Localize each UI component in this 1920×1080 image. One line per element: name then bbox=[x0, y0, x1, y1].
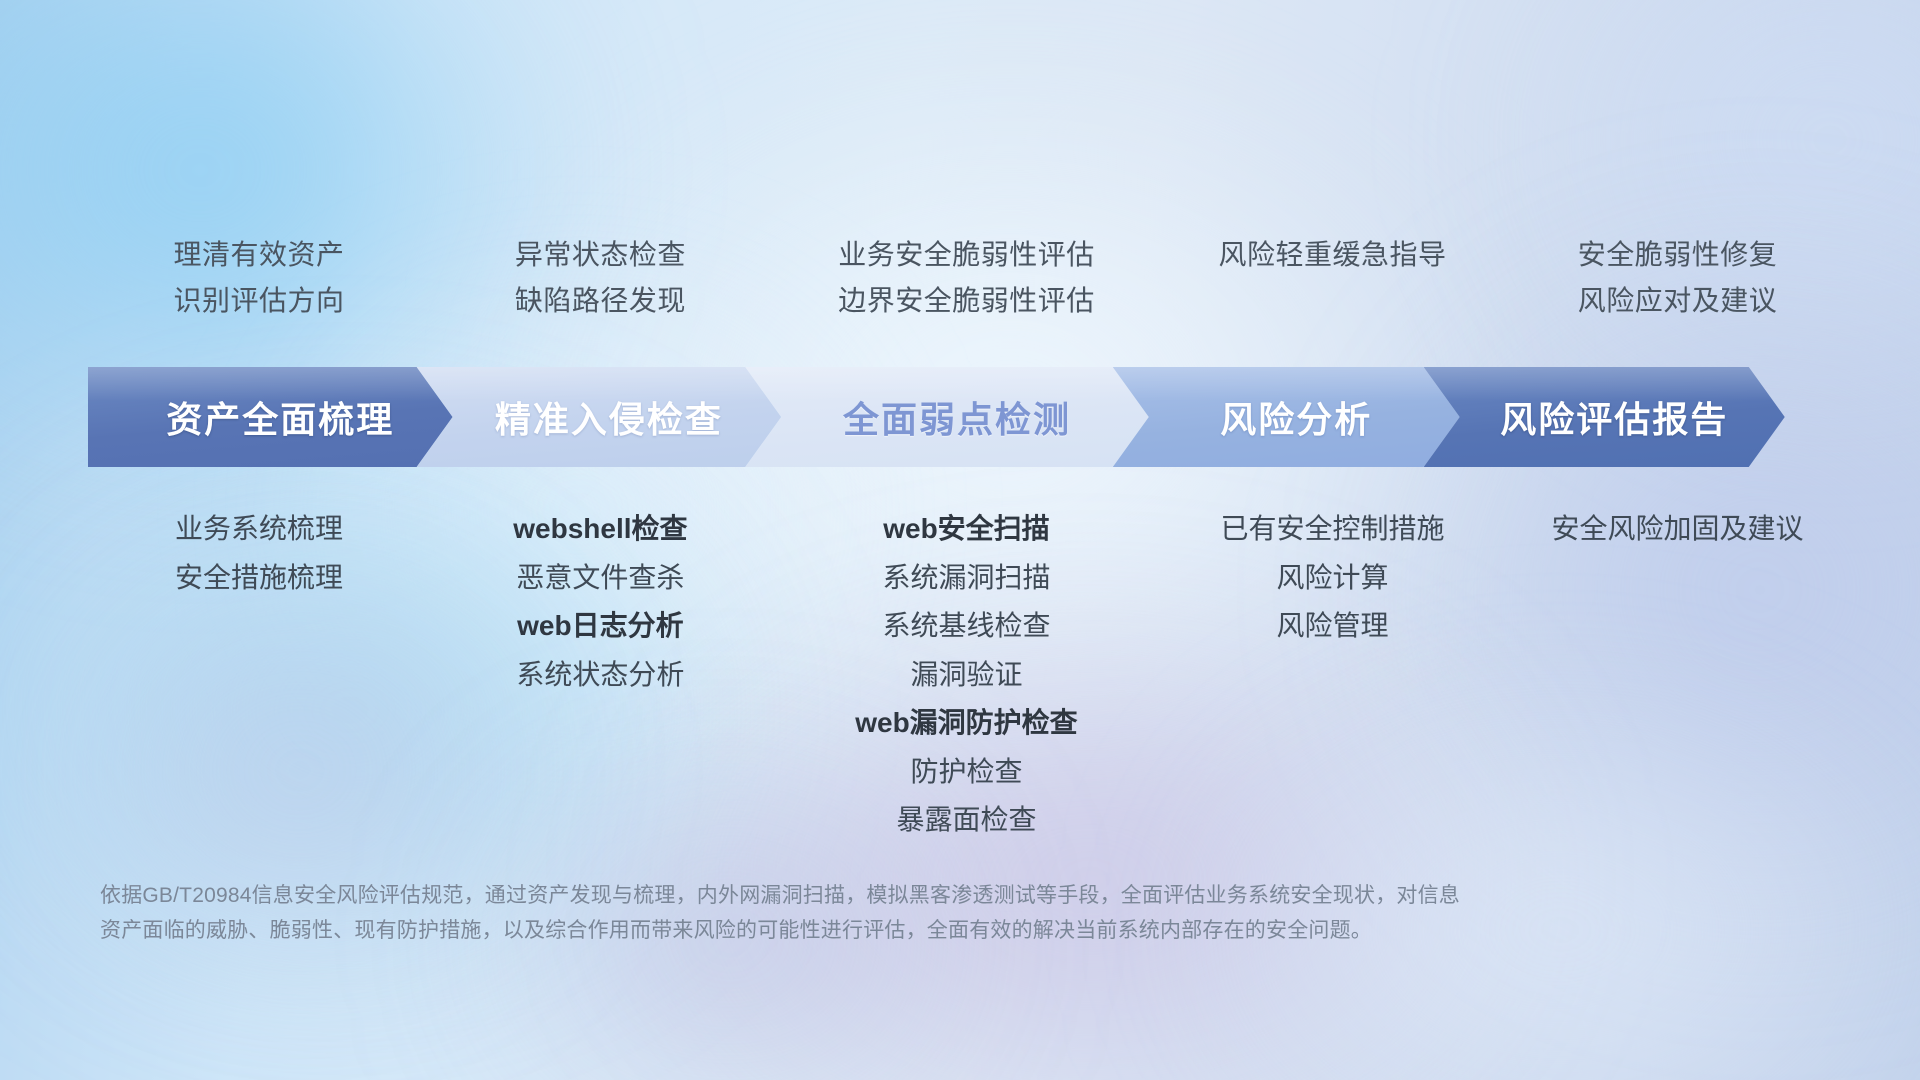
process-chevron-band: 资产全面梳理 精准入侵检查 全面弱点检测 风险分析 风险评估报告 bbox=[88, 367, 1858, 467]
footer-line: 资产面临的威胁、脆弱性、现有防护措施，以及综合作用而带来风险的可能性进行评估，全… bbox=[100, 913, 1620, 948]
top-item: 风险轻重缓急指导 bbox=[1160, 232, 1505, 278]
infographic-canvas: 理清有效资产 识别评估方向 异常状态检查 缺陷路径发现 业务安全脆弱性评估 边界… bbox=[0, 0, 1920, 1080]
bottom-item: 系统状态分析 bbox=[428, 651, 773, 700]
chevron-stage-intrusion-check[interactable]: 精准入侵检查 bbox=[417, 367, 782, 467]
bottom-item: 暴露面检查 bbox=[773, 796, 1160, 845]
top-item: 业务安全脆弱性评估 bbox=[773, 232, 1160, 278]
footer-description: 依据GB/T20984信息安全风险评估规范，通过资产发现与梳理，内外网漏洞扫描，… bbox=[100, 878, 1620, 948]
bottom-column-assessment-report: 安全风险加固及建议 bbox=[1505, 505, 1850, 554]
bottom-item: 安全措施梳理 bbox=[90, 554, 428, 603]
chevron-stage-weakness-detection[interactable]: 全面弱点检测 bbox=[745, 367, 1149, 467]
bottom-item: 漏洞验证 bbox=[773, 651, 1160, 700]
bottom-item: 系统漏洞扫描 bbox=[773, 554, 1160, 603]
chevron-label: 风险评估报告 bbox=[1500, 391, 1728, 443]
top-item: 边界安全脆弱性评估 bbox=[773, 278, 1160, 324]
top-item: 缺陷路径发现 bbox=[428, 278, 773, 324]
bottom-column-weakness-detection: web安全扫描 系统漏洞扫描 系统基线检查 漏洞验证 web漏洞防护检查 防护检… bbox=[773, 505, 1160, 845]
top-item: 安全脆弱性修复 bbox=[1505, 232, 1850, 278]
chevron-label: 风险分析 bbox=[1220, 391, 1372, 443]
top-column-asset-inventory: 理清有效资产 识别评估方向 bbox=[90, 232, 428, 324]
top-item: 理清有效资产 bbox=[90, 232, 428, 278]
chevron-stage-risk-analysis[interactable]: 风险分析 bbox=[1113, 367, 1460, 467]
top-item: 异常状态检查 bbox=[428, 232, 773, 278]
bottom-item: 风险管理 bbox=[1160, 602, 1505, 651]
bottom-item: web安全扫描 bbox=[773, 505, 1160, 554]
bottom-column-asset-inventory: 业务系统梳理 安全措施梳理 bbox=[90, 505, 428, 602]
top-item: 风险应对及建议 bbox=[1505, 278, 1850, 324]
bottom-item: 防护检查 bbox=[773, 748, 1160, 797]
chevron-stage-asset-inventory[interactable]: 资产全面梳理 bbox=[88, 367, 453, 467]
chevron-label: 全面弱点检测 bbox=[843, 391, 1071, 443]
bottom-item: 已有安全控制措施 bbox=[1160, 505, 1505, 554]
top-item: 识别评估方向 bbox=[90, 278, 428, 324]
stage-bottom-descriptions: 业务系统梳理 安全措施梳理 webshell检查 恶意文件查杀 web日志分析 … bbox=[90, 505, 1850, 845]
bottom-item: 恶意文件查杀 bbox=[428, 554, 773, 603]
bottom-item: web漏洞防护检查 bbox=[773, 699, 1160, 748]
top-column-risk-analysis: 风险轻重缓急指导 bbox=[1160, 232, 1505, 278]
top-column-assessment-report: 安全脆弱性修复 风险应对及建议 bbox=[1505, 232, 1850, 324]
chevron-stage-assessment-report[interactable]: 风险评估报告 bbox=[1424, 367, 1785, 467]
bottom-item: 安全风险加固及建议 bbox=[1505, 505, 1850, 554]
bottom-item: web日志分析 bbox=[428, 602, 773, 651]
top-column-intrusion-check: 异常状态检查 缺陷路径发现 bbox=[428, 232, 773, 324]
footer-line: 依据GB/T20984信息安全风险评估规范，通过资产发现与梳理，内外网漏洞扫描，… bbox=[100, 878, 1620, 913]
chevron-label: 精准入侵检查 bbox=[495, 391, 723, 443]
bottom-item: 业务系统梳理 bbox=[90, 505, 428, 554]
bottom-item: webshell检查 bbox=[428, 505, 773, 554]
chevron-label: 资产全面梳理 bbox=[166, 391, 394, 443]
bottom-item: 系统基线检查 bbox=[773, 602, 1160, 651]
bottom-column-intrusion-check: webshell检查 恶意文件查杀 web日志分析 系统状态分析 bbox=[428, 505, 773, 699]
background-glow-upper-right bbox=[1520, 0, 1920, 400]
bottom-item: 风险计算 bbox=[1160, 554, 1505, 603]
bottom-column-risk-analysis: 已有安全控制措施 风险计算 风险管理 bbox=[1160, 505, 1505, 651]
stage-top-descriptions: 理清有效资产 识别评估方向 异常状态检查 缺陷路径发现 业务安全脆弱性评估 边界… bbox=[90, 232, 1850, 324]
top-column-weakness-detection: 业务安全脆弱性评估 边界安全脆弱性评估 bbox=[773, 232, 1160, 324]
